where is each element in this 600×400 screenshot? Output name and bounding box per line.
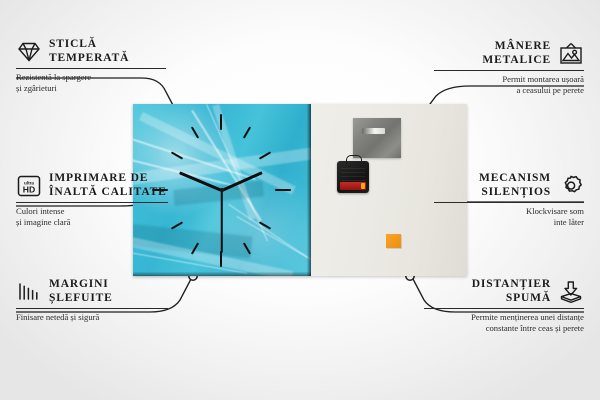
callout-rule — [424, 308, 584, 309]
infographic-canvas: STICLĂ TEMPERATĂ Rezistentă la spargere … — [0, 0, 600, 400]
hour-marker — [220, 251, 222, 267]
svg-text:HD: HD — [23, 184, 35, 194]
foam-spacer — [386, 234, 401, 248]
battery — [340, 182, 366, 190]
callout-subtitle: Permit montarea ușoară a ceasului pe per… — [434, 74, 584, 96]
hour-marker — [275, 189, 291, 191]
callout-title: DISTANȚIER SPUMĂ — [472, 278, 551, 305]
callout-metal-handles: MÂNERE METALICE Permit montarea ușoară a… — [434, 40, 584, 96]
clock-center-pin — [220, 188, 224, 192]
callout-rule — [16, 202, 168, 203]
callout-subtitle: Rezistentă la spargere și zgârieturi — [16, 72, 166, 94]
callout-subtitle: Permite menținerea unei distanțe constan… — [424, 312, 584, 334]
hour-marker — [243, 126, 251, 138]
callout-subtitle: Klockvisare som inte låter — [434, 206, 584, 228]
callout-silent-mechanism: MECANISM SILENȚIOS Klockvisare som inte … — [434, 172, 584, 228]
callout-subtitle: Finisare netedă și sigură — [16, 312, 168, 323]
callout-rule — [16, 308, 168, 309]
callout-foam-spacer: DISTANȚIER SPUMĂ Permite menținerea unei… — [424, 278, 584, 334]
picture-frame-icon — [558, 42, 584, 66]
callout-subtitle: Culori intense și imagine clară — [16, 206, 168, 228]
ultra-hd-icon: ultra HD — [16, 174, 42, 198]
callout-title: MÂNERE METALICE — [482, 40, 551, 67]
mechanism-texture — [341, 165, 365, 181]
hour-marker — [220, 114, 222, 130]
hanger-slot — [362, 128, 385, 134]
metal-hanger-plate — [353, 118, 401, 158]
callout-high-quality-print: ultra HD IMPRIMARE DE ÎNALTĂ CALITATE Cu… — [16, 172, 168, 228]
callout-title: IMPRIMARE DE ÎNALTĂ CALITATE — [49, 172, 167, 199]
diamond-icon — [16, 40, 42, 64]
callout-rule — [434, 202, 584, 203]
callout-title: STICLĂ TEMPERATĂ — [49, 38, 129, 65]
callout-rule — [434, 70, 584, 71]
callout-rule — [16, 68, 166, 69]
second-hand — [221, 191, 223, 253]
product-photo — [133, 104, 467, 276]
polished-edges-icon — [16, 280, 42, 304]
callout-title: MECANISM SILENȚIOS — [479, 172, 551, 199]
press-down-icon — [558, 280, 584, 304]
clock-mechanism — [337, 161, 369, 193]
callout-title: MARGINI ȘLEFUITE — [49, 278, 113, 305]
mechanism-hanger-loop — [346, 155, 362, 164]
callout-polished-edges: MARGINI ȘLEFUITE Finisare netedă și sigu… — [16, 278, 168, 323]
callout-tempered-glass: STICLĂ TEMPERATĂ Rezistentă la spargere … — [16, 38, 166, 94]
gear-icon — [558, 174, 584, 198]
